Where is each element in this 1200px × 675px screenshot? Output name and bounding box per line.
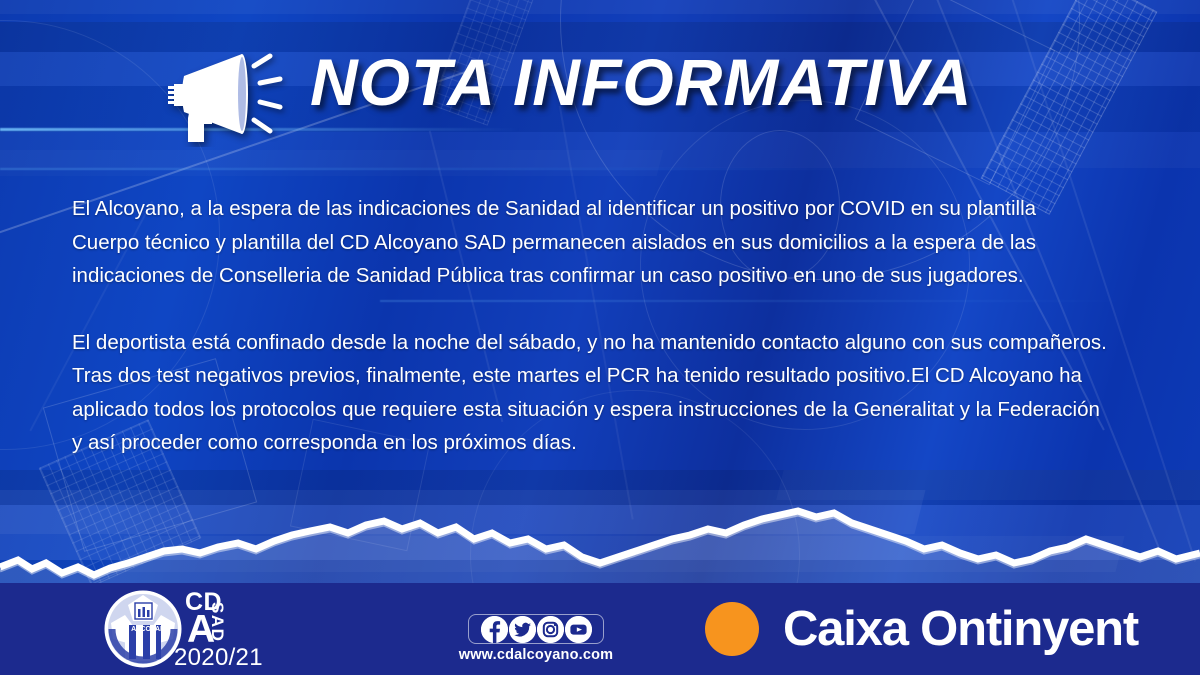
- bg-light-streak: [0, 168, 900, 170]
- social-icons-box: [468, 614, 604, 644]
- twitter-icon[interactable]: [509, 616, 536, 643]
- bg-panel: [0, 150, 663, 176]
- paragraph-2: El deportista está confinado desde la no…: [72, 326, 1162, 460]
- body-line: y así proceder como corresponda en los p…: [72, 431, 577, 454]
- club-crest-cluster: C.D. ALCOYANO CD A SAD 2020/21: [103, 586, 273, 672]
- sponsor-caixa-ontinyent: Caixa Ontinyent: [655, 583, 1200, 675]
- caixa-ontinyent-mark-icon: [673, 598, 769, 660]
- page-title: NOTA INFORMATIVA: [310, 44, 972, 120]
- crest-season-label: 2020/21: [174, 644, 263, 672]
- crest-badge-text: C.D. ALCOYANO: [115, 626, 171, 633]
- youtube-icon[interactable]: [565, 616, 592, 643]
- body-line: indicaciones de Conselleria de Sanidad P…: [72, 264, 1024, 287]
- body-line: Cuerpo técnico y plantilla del CD Alcoya…: [72, 231, 1036, 254]
- website-url[interactable]: www.cdalcoyano.com: [450, 647, 622, 663]
- instagram-icon[interactable]: [537, 616, 564, 643]
- poster-canvas: NOTA INFORMATIVA El Alcoyano, a la esper…: [0, 0, 1200, 675]
- social-cluster: www.cdalcoyano.com: [468, 614, 618, 670]
- announcement-body: El Alcoyano, a la espera de las indicaci…: [72, 192, 1162, 460]
- crest-sad-label: SAD: [207, 602, 227, 642]
- body-line: aplicado todos los protocolos que requie…: [72, 398, 1100, 421]
- paragraph-1: El Alcoyano, a la espera de las indicaci…: [72, 192, 1162, 293]
- body-line: Tras dos test negativos previos, finalme…: [72, 364, 1082, 387]
- facebook-icon[interactable]: [481, 616, 508, 643]
- cd-alcoyano-crest-icon: C.D. ALCOYANO: [103, 589, 183, 669]
- body-line: El deportista está confinado desde la no…: [72, 331, 1107, 354]
- sponsor-name: Caixa Ontinyent: [783, 601, 1138, 657]
- megaphone-icon: [150, 42, 300, 147]
- body-line: El Alcoyano, a la espera de las indicaci…: [72, 197, 1036, 220]
- header: NOTA INFORMATIVA: [0, 0, 1200, 150]
- bg-panel: [776, 470, 1200, 500]
